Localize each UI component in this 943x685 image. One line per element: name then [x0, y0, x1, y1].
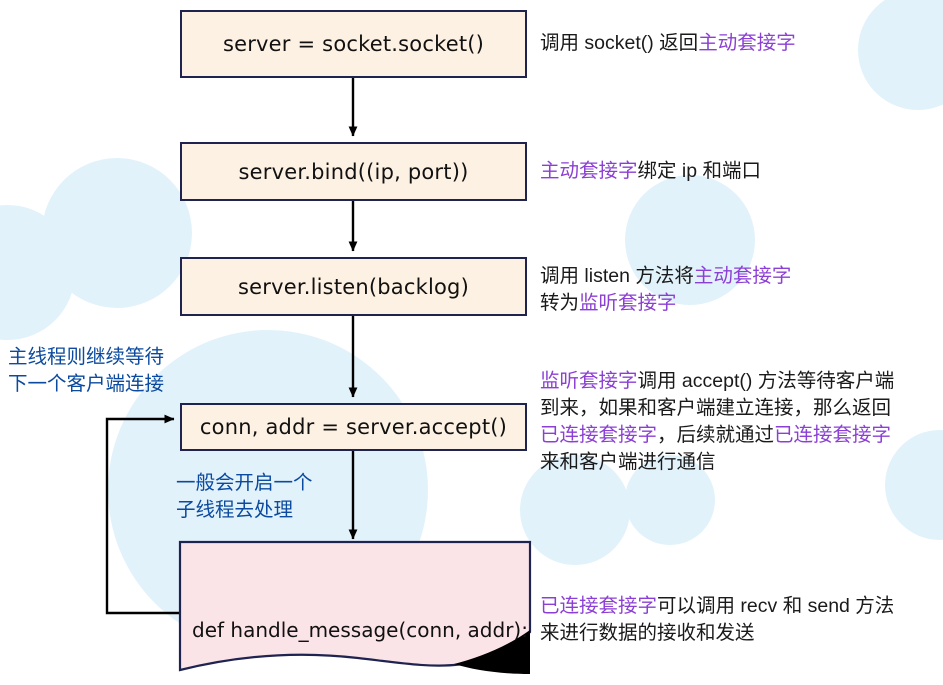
annotation-seg-highlight: 主动套接字 — [694, 265, 792, 287]
side-note-thread: 一般会开启一个 子线程去处理 — [176, 470, 313, 524]
code-line: def handle_message(conn, addr): — [192, 614, 528, 646]
annotation-seg: ，后续就通过 — [657, 424, 774, 446]
annotation-seg: 绑定 ip 和端口 — [638, 160, 762, 182]
side-note-line: 主线程则继续等待 — [8, 344, 164, 371]
annotation-line: 调用 socket() 返回主动套接字 — [540, 30, 796, 57]
node-socket[interactable]: server = socket.socket() — [180, 10, 527, 78]
annotation-bind: 主动套接字绑定 ip 和端口 — [540, 158, 761, 185]
annotation-seg-highlight: 已连接套接字 — [540, 595, 657, 617]
node-bind[interactable]: server.bind((ip, port)) — [180, 142, 527, 201]
node-accept[interactable]: conn, addr = server.accept() — [180, 403, 527, 451]
node-listen[interactable]: server.listen(backlog) — [180, 257, 527, 316]
annotation-seg-highlight: 已连接套接字 — [774, 424, 891, 446]
annotation-seg-highlight: 主动套接字 — [540, 160, 638, 182]
annotation-seg: 转为 — [540, 292, 579, 314]
annotation-line: 已连接套接字可以调用 recv 和 send 方法 — [540, 593, 894, 620]
flowchart-canvas: server = socket.socket() server.bind((ip… — [0, 0, 943, 685]
node-bind-label: server.bind((ip, port)) — [239, 160, 469, 184]
annotation-line: 转为监听套接字 — [540, 290, 791, 317]
annotation-seg-highlight: 已连接套接字 — [540, 424, 657, 446]
annotation-seg-highlight: 监听套接字 — [579, 292, 677, 314]
annotation-line: 已连接套接字，后续就通过已连接套接字 — [540, 422, 894, 449]
side-note-loop: 主线程则继续等待 下一个客户端连接 — [8, 344, 164, 398]
side-note-line: 子线程去处理 — [176, 497, 313, 524]
annotation-seg: 调用 socket() 返回 — [540, 32, 698, 54]
annotation-line: 监听套接字调用 accept() 方法等待客户端 — [540, 368, 894, 395]
node-handle-message-code: def handle_message(conn, addr): msg = co… — [192, 550, 528, 685]
annotation-line: 到来，如果和客户端建立连接，那么返回 — [540, 395, 894, 422]
annotation-accept: 监听套接字调用 accept() 方法等待客户端 到来，如果和客户端建立连接，那… — [540, 368, 894, 476]
annotation-seg-highlight: 主动套接字 — [698, 32, 796, 54]
node-listen-label: server.listen(backlog) — [238, 275, 469, 299]
annotation-seg: 可以调用 recv 和 send 方法 — [657, 595, 894, 617]
side-note-line: 一般会开启一个 — [176, 470, 313, 497]
annotation-seg: 来和客户端进行通信 — [540, 451, 716, 473]
annotation-seg: 调用 accept() 方法等待客户端 — [638, 370, 895, 392]
annotation-seg-highlight: 监听套接字 — [540, 370, 638, 392]
annotation-line: 主动套接字绑定 ip 和端口 — [540, 158, 761, 185]
annotation-line: 来进行数据的接收和发送 — [540, 620, 894, 647]
node-socket-label: server = socket.socket() — [223, 32, 484, 56]
annotation-seg: 调用 listen 方法将 — [540, 265, 694, 287]
flow-nodes: server = socket.socket() server.bind((ip… — [0, 0, 943, 685]
annotation-handle-message: 已连接套接字可以调用 recv 和 send 方法 来进行数据的接收和发送 — [540, 593, 894, 647]
side-note-line: 下一个客户端连接 — [8, 371, 164, 398]
node-accept-label: conn, addr = server.accept() — [200, 415, 507, 439]
annotation-seg: 来进行数据的接收和发送 — [540, 622, 755, 644]
annotation-listen: 调用 listen 方法将主动套接字 转为监听套接字 — [540, 263, 791, 317]
annotation-socket: 调用 socket() 返回主动套接字 — [540, 30, 796, 57]
annotation-line: 来和客户端进行通信 — [540, 449, 894, 476]
annotation-seg: 到来，如果和客户端建立连接，那么返回 — [540, 397, 891, 419]
annotation-line: 调用 listen 方法将主动套接字 — [540, 263, 791, 290]
